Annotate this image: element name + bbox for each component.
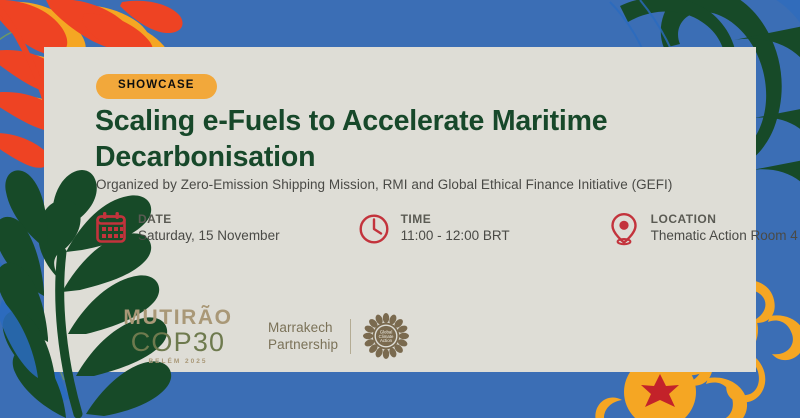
detail-label: LOCATION [651, 212, 798, 227]
cop30-logo-cop30: COP30 [118, 329, 238, 356]
page-title: Scaling e-Fuels to Accelerate Maritime D… [95, 104, 715, 176]
marrakech-partnership-logo: Marrakech Partnership [268, 313, 409, 359]
marrakech-line-2: Partnership [268, 336, 338, 353]
calendar-icon [94, 210, 128, 248]
logo-row: MUTIRÃO COP30 BELÉM 2025 Marrakech Partn… [118, 307, 409, 366]
event-banner: SHOWCASE Scaling e-Fuels to Accelerate M… [0, 0, 800, 418]
cop30-logo-mutirao: MUTIRÃO [118, 307, 238, 328]
detail-location: LOCATION Thematic Action Room 4 [607, 210, 798, 248]
detail-label: DATE [138, 212, 280, 227]
detail-date: DATE Saturday, 15 November [94, 210, 280, 248]
showcase-badge: SHOWCASE [96, 74, 217, 99]
marrakech-line-1: Marrakech [268, 319, 338, 336]
detail-value: Saturday, 15 November [138, 227, 280, 245]
gca-line-3: Action [380, 338, 393, 343]
location-pin-icon [607, 210, 641, 248]
organizer-text: Organized by Zero-Emission Shipping Miss… [96, 177, 672, 192]
marrakech-partnership-text: Marrakech Partnership [268, 319, 351, 354]
detail-label: TIME [401, 212, 510, 227]
clock-icon [357, 210, 391, 248]
detail-value: Thematic Action Room 4 [651, 227, 798, 245]
detail-time: TIME 11:00 - 12:00 BRT [357, 210, 510, 248]
event-details: DATE Saturday, 15 November TIME 11:00 - … [94, 210, 798, 248]
cop30-logo: MUTIRÃO COP30 BELÉM 2025 [118, 307, 238, 366]
global-climate-action-badge-icon: Global Climate Action [363, 313, 409, 359]
detail-value: 11:00 - 12:00 BRT [401, 227, 510, 245]
cop30-logo-belem: BELÉM 2025 [118, 359, 238, 366]
